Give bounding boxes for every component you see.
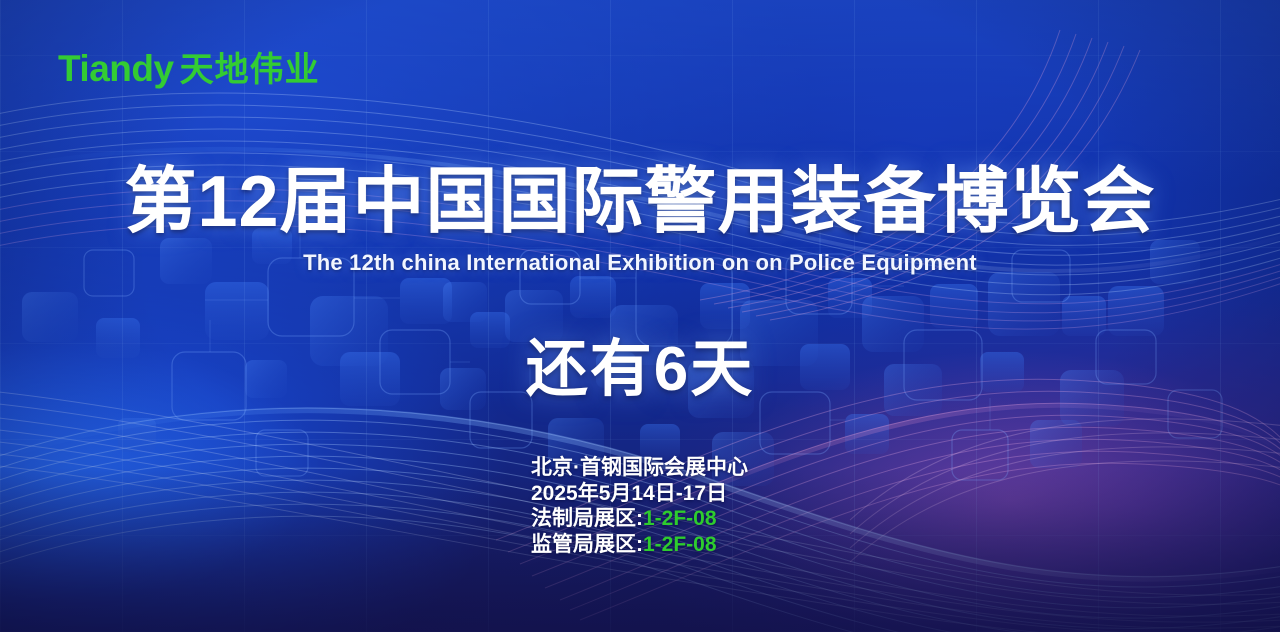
event-dates: 2025年5月14日-17日 [531,481,748,507]
brand-logo: Tiandy天地伟业 [58,50,320,87]
brand-logo-latin: Tiandy [58,48,174,89]
booth-legal-bureau-value: 1-2F-08 [643,507,717,530]
event-subtitle-english: The 12th china International Exhibition … [0,250,1280,276]
brand-logo-chinese: 天地伟业 [180,51,320,89]
booth-supervision-bureau-label: 监管局展区: [531,533,643,556]
countdown-text: 还有6天 [0,318,1280,408]
event-info-block: 北京·首钢国际会展中心 2025年5月14日-17日 法制局展区:1-2F-08… [531,455,748,557]
event-title-chinese: 第12届中国国际警用装备博览会 [0,166,1280,239]
promo-banner: Tiandy天地伟业 第12届中国国际警用装备博览会 The 12th chin… [0,0,1280,632]
venue-text: 北京·首钢国际会展中心 [531,455,748,481]
booth-legal-bureau: 法制局展区:1-2F-08 [531,506,748,532]
booth-supervision-bureau-value: 1-2F-08 [643,533,717,556]
booth-supervision-bureau: 监管局展区:1-2F-08 [531,532,748,558]
booth-legal-bureau-label: 法制局展区: [531,507,643,530]
